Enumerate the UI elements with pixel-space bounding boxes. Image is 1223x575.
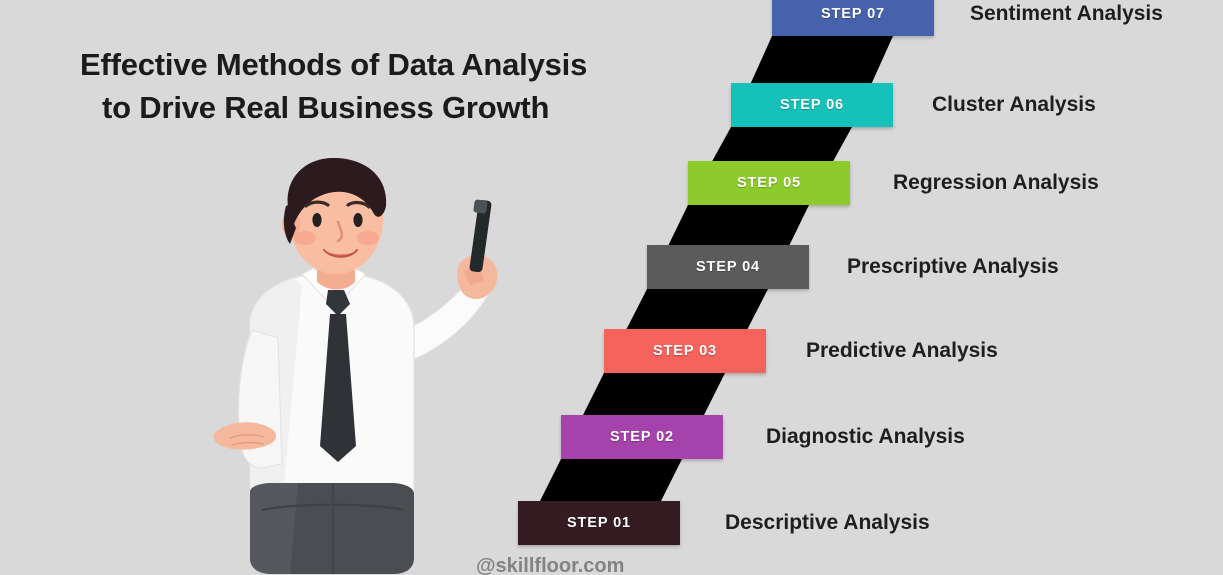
step-row: STEP 01Descriptive Analysis [0,501,1223,545]
title-line-1: Effective Methods of Data Analysis [80,44,680,87]
step-row: STEP 02Diagnostic Analysis [0,415,1223,459]
step-number-label: STEP 01 [567,515,631,531]
step-description-step-02: Diagnostic Analysis [766,415,965,459]
step-badge-step-02[interactable]: STEP 02 [561,415,723,459]
step-row: STEP 04Prescriptive Analysis [0,245,1223,289]
brand-watermark: @skillfloor.com [476,555,624,575]
step-badge-step-05[interactable]: STEP 05 [688,161,850,205]
step-number-label: STEP 04 [696,259,760,275]
step-description-step-03: Predictive Analysis [806,329,998,373]
step-number-label: STEP 02 [610,429,674,445]
step-badge-step-01[interactable]: STEP 01 [518,501,680,545]
step-row: STEP 03Predictive Analysis [0,329,1223,373]
step-description-step-06: Cluster Analysis [932,83,1096,127]
step-badge-step-07[interactable]: STEP 07 [772,0,934,36]
step-badge-step-04[interactable]: STEP 04 [647,245,809,289]
step-badge-step-03[interactable]: STEP 03 [604,329,766,373]
step-row: STEP 05Regression Analysis [0,161,1223,205]
infographic-canvas: Effective Methods of Data Analysis to Dr… [0,0,1223,575]
step-description-step-07: Sentiment Analysis [970,0,1163,36]
step-description-step-01: Descriptive Analysis [725,501,930,545]
step-badge-step-06[interactable]: STEP 06 [731,83,893,127]
step-number-label: STEP 06 [780,97,844,113]
step-row: STEP 06Cluster Analysis [0,83,1223,127]
step-description-step-04: Prescriptive Analysis [847,245,1059,289]
step-number-label: STEP 07 [821,6,885,22]
step-row: STEP 07Sentiment Analysis [0,0,1223,36]
step-description-step-05: Regression Analysis [893,161,1099,205]
step-number-label: STEP 05 [737,175,801,191]
step-number-label: STEP 03 [653,343,717,359]
